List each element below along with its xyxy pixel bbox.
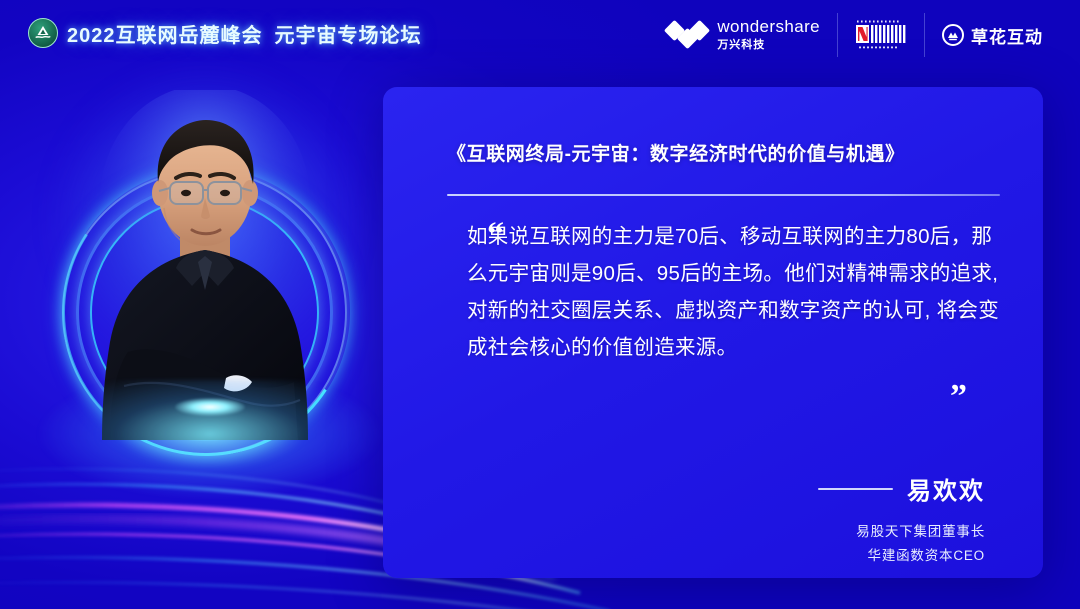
speaker-name: 易欢欢 — [907, 471, 985, 506]
header-bar: 2022互联网岳麓峰会元宇宙专场论坛 wondershare 万兴科技 — [0, 0, 1080, 70]
summit-title: 2022互联网岳麓峰会元宇宙专场论坛 — [67, 19, 422, 48]
quote-text: 如果说互联网的主力是70后、移动互联网的主力80后，那么元宇宙则是90后、95后… — [467, 218, 1012, 366]
speaker-role: 易股天下集团董事长 华建函数资本CEO — [818, 520, 985, 568]
sponsor-caohua[interactable]: 草花互动 — [924, 13, 1060, 57]
quote-close-icon: ” — [950, 380, 967, 414]
culture-tech-emblem-icon — [855, 18, 907, 52]
summit-title-sub: 元宇宙专场论坛 — [275, 25, 422, 47]
caohua-circle-icon — [942, 24, 964, 46]
card-title: 《互联网终局-元宇宙：数字经济时代的价值与机遇》 — [447, 139, 997, 166]
slide-canvas: 2022互联网岳麓峰会元宇宙专场论坛 wondershare 万兴科技 — [0, 0, 1080, 609]
summit-title-main: 2022互联网岳麓峰会 — [67, 25, 263, 47]
attribution-rule — [818, 488, 893, 490]
title-divider — [447, 194, 1000, 196]
wondershare-w-mark-icon — [667, 22, 707, 48]
sponsor-wondershare[interactable]: wondershare 万兴科技 — [650, 13, 837, 57]
mountain-peak-badge-icon — [28, 18, 58, 48]
caohua-name: 草花互动 — [971, 23, 1043, 48]
summit-brand: 2022互联网岳麓峰会元宇宙专场论坛 — [28, 18, 422, 48]
quote-block: “ 如果说互联网的主力是70后、移动互联网的主力80后，那么元宇宙则是90后、9… — [447, 218, 997, 366]
speaker-role-line1: 易股天下集团董事长 — [818, 520, 985, 544]
quote-card: 《互联网终局-元宇宙：数字经济时代的价值与机遇》 “ 如果说互联网的主力是70后… — [383, 87, 1043, 578]
wondershare-name-en: wondershare — [717, 17, 820, 36]
attribution: 易欢欢 易股天下集团董事长 华建函数资本CEO — [818, 471, 985, 568]
quote-open-icon: “ — [487, 218, 504, 252]
sponsor-culture-tech[interactable] — [837, 13, 924, 57]
sponsor-logos: wondershare 万兴科技 — [650, 13, 1060, 57]
speaker-role-line2: 华建函数资本CEO — [818, 544, 985, 568]
wondershare-name-cn: 万兴科技 — [717, 39, 765, 51]
